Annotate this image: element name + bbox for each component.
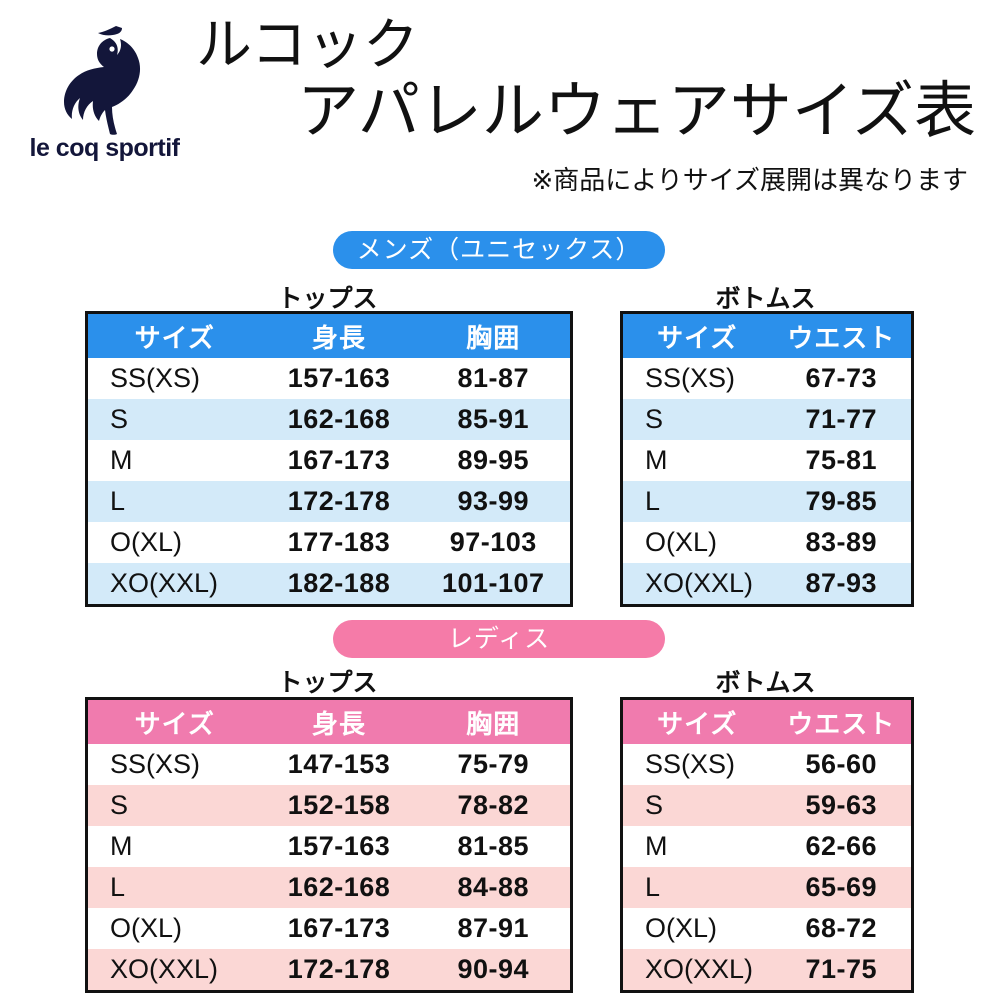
cell-size: L [87, 481, 262, 522]
cell-size: L [622, 867, 772, 908]
group-label-mens-tops: トップス [85, 279, 570, 315]
table-row: M 167-173 89-95 [87, 440, 572, 481]
cell-size: S [87, 399, 262, 440]
cell-height: 162-168 [262, 867, 417, 908]
cell-size: S [622, 785, 772, 826]
title-block: ルコック アパレルウェアサイズ表 ※商品によりサイズ展開は異なります [190, 18, 980, 197]
table-ladies-tops: サイズ 身長 胸囲 SS(XS) 147-153 75-79 S 152-158… [85, 697, 573, 993]
table-row: XO(XXL) 172-178 90-94 [87, 949, 572, 992]
table-row: SS(XS) 67-73 [622, 358, 913, 399]
cell-waist: 75-81 [772, 440, 913, 481]
cell-size: O(XL) [87, 908, 262, 949]
table-header-row: サイズ ウエスト [622, 699, 913, 745]
cell-waist: 79-85 [772, 481, 913, 522]
table-row: XO(XXL) 71-75 [622, 949, 913, 992]
column-header-chest: 胸囲 [417, 313, 572, 359]
cell-waist: 62-66 [772, 826, 913, 867]
cell-waist: 65-69 [772, 867, 913, 908]
cell-chest: 87-91 [417, 908, 572, 949]
group-label-ladies-tops: トップス [85, 663, 570, 699]
cell-chest: 89-95 [417, 440, 572, 481]
page-title-line-2: アパレルウェアサイズ表 [190, 80, 980, 152]
table-row: SS(XS) 147-153 75-79 [87, 744, 572, 785]
cell-height: 162-168 [262, 399, 417, 440]
table-header-row: サイズ 身長 胸囲 [87, 699, 572, 745]
cell-waist: 71-77 [772, 399, 913, 440]
page-subtitle-note: ※商品によりサイズ展開は異なります [190, 160, 980, 197]
page-header: le coq sportif ルコック アパレルウェアサイズ表 ※商品によりサイ… [0, 0, 1000, 215]
table-row: SS(XS) 157-163 81-87 [87, 358, 572, 399]
table-header-row: サイズ 身長 胸囲 [87, 313, 572, 359]
cell-chest: 85-91 [417, 399, 572, 440]
cell-size: M [87, 826, 262, 867]
cell-size: O(XL) [622, 522, 772, 563]
table-row: M 157-163 81-85 [87, 826, 572, 867]
cell-waist: 68-72 [772, 908, 913, 949]
cell-size: S [622, 399, 772, 440]
cell-size: XO(XXL) [87, 949, 262, 992]
brand-wordmark: le coq sportif [22, 134, 187, 163]
table-row: O(XL) 68-72 [622, 908, 913, 949]
column-header-size: サイズ [87, 313, 262, 359]
column-header-size: サイズ [622, 313, 772, 359]
cell-chest: 84-88 [417, 867, 572, 908]
cell-size: XO(XXL) [87, 563, 262, 606]
cell-size: L [622, 481, 772, 522]
cell-waist: 59-63 [772, 785, 913, 826]
cell-height: 167-173 [262, 908, 417, 949]
table-row: S 152-158 78-82 [87, 785, 572, 826]
cell-chest: 81-87 [417, 358, 572, 399]
column-header-waist: ウエスト [772, 313, 913, 359]
cell-size: SS(XS) [622, 744, 772, 785]
table-row: L 162-168 84-88 [87, 867, 572, 908]
cell-size: O(XL) [87, 522, 262, 563]
table-ladies-bottoms: サイズ ウエスト SS(XS) 56-60 S 59-63 M 62-66 L … [620, 697, 914, 993]
cell-height: 177-183 [262, 522, 417, 563]
cell-chest: 78-82 [417, 785, 572, 826]
cell-chest: 93-99 [417, 481, 572, 522]
table-header-row: サイズ ウエスト [622, 313, 913, 359]
column-header-height: 身長 [262, 313, 417, 359]
group-label-mens-bottoms: ボトムス [620, 279, 911, 315]
column-header-size: サイズ [622, 699, 772, 745]
cell-height: 167-173 [262, 440, 417, 481]
cell-chest: 90-94 [417, 949, 572, 992]
cell-height: 182-188 [262, 563, 417, 606]
table-row: S 162-168 85-91 [87, 399, 572, 440]
group-label-ladies-bottoms: ボトムス [620, 663, 911, 699]
section-badge-mens: メンズ（ユニセックス） [333, 231, 665, 269]
table-row: L 79-85 [622, 481, 913, 522]
table-row: SS(XS) 56-60 [622, 744, 913, 785]
rooster-logo-icon [50, 22, 160, 137]
cell-size: L [87, 867, 262, 908]
table-row: XO(XXL) 87-93 [622, 563, 913, 606]
table-row: M 75-81 [622, 440, 913, 481]
cell-height: 157-163 [262, 826, 417, 867]
cell-size: M [622, 826, 772, 867]
column-header-waist: ウエスト [772, 699, 913, 745]
cell-height: 172-178 [262, 949, 417, 992]
cell-size: S [87, 785, 262, 826]
page-title-line-1: ルコック [190, 18, 980, 80]
table-row: XO(XXL) 182-188 101-107 [87, 563, 572, 606]
table-row: S 71-77 [622, 399, 913, 440]
cell-size: XO(XXL) [622, 949, 772, 992]
table-mens-tops: サイズ 身長 胸囲 SS(XS) 157-163 81-87 S 162-168… [85, 311, 573, 607]
table-row: S 59-63 [622, 785, 913, 826]
cell-waist: 56-60 [772, 744, 913, 785]
section-badge-ladies: レディス [333, 620, 665, 658]
cell-chest: 81-85 [417, 826, 572, 867]
cell-size: M [87, 440, 262, 481]
cell-chest: 97-103 [417, 522, 572, 563]
cell-chest: 75-79 [417, 744, 572, 785]
table-row: O(XL) 177-183 97-103 [87, 522, 572, 563]
column-header-size: サイズ [87, 699, 262, 745]
brand-logo: le coq sportif [22, 22, 187, 177]
cell-height: 157-163 [262, 358, 417, 399]
cell-size: XO(XXL) [622, 563, 772, 606]
table-row: O(XL) 83-89 [622, 522, 913, 563]
cell-chest: 101-107 [417, 563, 572, 606]
table-row: L 172-178 93-99 [87, 481, 572, 522]
cell-height: 172-178 [262, 481, 417, 522]
cell-size: M [622, 440, 772, 481]
column-header-chest: 胸囲 [417, 699, 572, 745]
cell-size: SS(XS) [622, 358, 772, 399]
cell-waist: 71-75 [772, 949, 913, 992]
cell-waist: 83-89 [772, 522, 913, 563]
cell-size: SS(XS) [87, 358, 262, 399]
table-mens-bottoms: サイズ ウエスト SS(XS) 67-73 S 71-77 M 75-81 L … [620, 311, 914, 607]
cell-waist: 67-73 [772, 358, 913, 399]
cell-size: SS(XS) [87, 744, 262, 785]
table-row: L 65-69 [622, 867, 913, 908]
column-header-height: 身長 [262, 699, 417, 745]
table-row: O(XL) 167-173 87-91 [87, 908, 572, 949]
cell-height: 147-153 [262, 744, 417, 785]
cell-size: O(XL) [622, 908, 772, 949]
cell-height: 152-158 [262, 785, 417, 826]
table-row: M 62-66 [622, 826, 913, 867]
cell-waist: 87-93 [772, 563, 913, 606]
